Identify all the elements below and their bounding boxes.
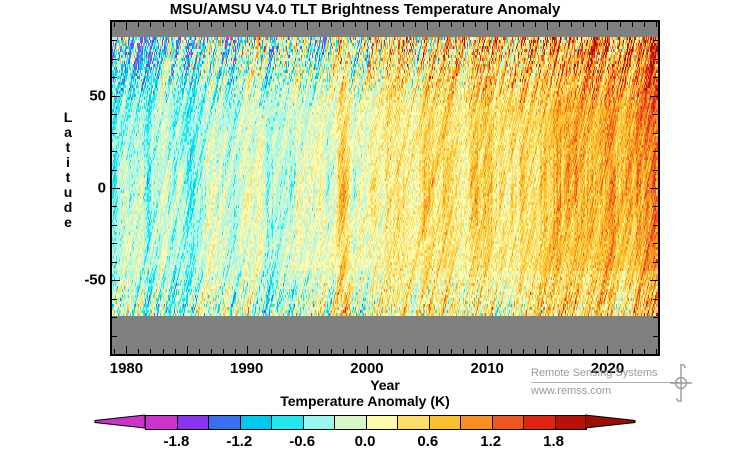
x-tick-1991 xyxy=(259,349,260,354)
x-tick-top-1982 xyxy=(150,22,151,27)
y-axis-title-letter-5: u xyxy=(60,185,76,200)
x-tick-top-2015 xyxy=(547,22,548,30)
x-tick-2003 xyxy=(403,349,404,354)
x-tick-top-2004 xyxy=(415,22,416,27)
colorbar-band-12 xyxy=(524,416,556,429)
x-tick-top-2008 xyxy=(463,22,464,27)
x-tick-2012 xyxy=(511,349,512,354)
y-axis-title-letter-7: e xyxy=(60,215,76,230)
x-tick-2016 xyxy=(559,349,560,354)
y-tick--10 xyxy=(112,206,117,207)
y-tick-right-30 xyxy=(653,133,658,134)
y-axis-title: Latitude xyxy=(60,110,76,230)
x-tick-top-2013 xyxy=(523,22,524,27)
x-tick-1983 xyxy=(163,349,164,354)
x-tick-top-1983 xyxy=(163,22,164,27)
y-axis-title-letter-1: a xyxy=(60,125,76,140)
colorbar-band-1 xyxy=(178,416,210,429)
colorbar-bands[interactable] xyxy=(145,415,587,430)
x-tick-top-1984 xyxy=(175,22,176,27)
x-tick-top-1996 xyxy=(319,22,320,27)
x-tick-top-2020 xyxy=(607,22,608,30)
x-tick-top-1979 xyxy=(114,22,115,27)
y-tick-right-10 xyxy=(653,170,658,171)
colorbar-band-3 xyxy=(241,416,273,429)
colorbar-tick-0.6: 0.6 xyxy=(417,433,438,450)
x-tick-top-1981 xyxy=(138,22,139,27)
x-tick-1993 xyxy=(283,349,284,354)
y-tick--30 xyxy=(112,243,117,244)
x-tick-2024 xyxy=(656,349,657,354)
x-tick-top-1992 xyxy=(271,22,272,27)
x-tick-1984 xyxy=(175,349,176,354)
y-axis-title-letter-4: t xyxy=(60,170,76,185)
y-tick-10 xyxy=(112,170,117,171)
x-tick-2004 xyxy=(415,349,416,354)
x-tick-2008 xyxy=(463,349,464,354)
x-tick-1979 xyxy=(114,349,115,354)
x-tick-top-2018 xyxy=(583,22,584,27)
watermark-line-1: Remote Sensing Systems xyxy=(531,366,681,383)
x-tick-1987 xyxy=(211,349,212,354)
y-tick-60 xyxy=(112,77,117,78)
x-tick-top-2019 xyxy=(595,22,596,27)
x-tick-top-1995 xyxy=(307,22,308,30)
x-tick-top-2001 xyxy=(379,22,380,27)
watermark: Remote Sensing Systems www.remss.com xyxy=(531,366,681,399)
x-tick-top-1991 xyxy=(259,22,260,27)
x-tick-2020 xyxy=(607,346,608,354)
x-tick-top-2010 xyxy=(487,22,488,30)
colorbar-tick-1.2: 1.2 xyxy=(480,433,501,450)
y-tick-right--10 xyxy=(653,206,658,207)
y-tick-30 xyxy=(112,133,117,134)
x-tick-top-1980 xyxy=(126,22,127,30)
x-tick-top-1987 xyxy=(211,22,212,27)
y-axis-title-letter-6: d xyxy=(60,200,76,215)
x-axis-label-1990: 1990 xyxy=(230,360,263,377)
x-tick-1994 xyxy=(295,349,296,354)
x-tick-2011 xyxy=(499,349,500,354)
colorbar-band-0 xyxy=(146,416,178,429)
x-tick-2015 xyxy=(547,346,548,354)
y-tick-right-60 xyxy=(653,77,658,78)
y-tick-40 xyxy=(112,114,117,115)
x-tick-2013 xyxy=(523,349,524,354)
x-tick-1982 xyxy=(150,349,151,354)
x-tick-top-1998 xyxy=(343,22,344,27)
y-axis-label-50: 50 xyxy=(66,87,106,104)
x-tick-1998 xyxy=(343,349,344,354)
x-tick-2022 xyxy=(632,349,633,354)
x-tick-2006 xyxy=(439,349,440,354)
x-axis-label-2010: 2010 xyxy=(471,360,504,377)
x-tick-top-2023 xyxy=(644,22,645,27)
x-tick-2023 xyxy=(644,349,645,354)
y-tick-right--20 xyxy=(653,225,658,226)
x-tick-top-1994 xyxy=(295,22,296,27)
x-tick-1996 xyxy=(319,349,320,354)
x-tick-1989 xyxy=(235,349,236,354)
colorbar[interactable]: -1.8-1.2-0.60.00.61.21.8 xyxy=(95,411,635,431)
y-tick-right-20 xyxy=(653,151,658,152)
y-tick--70 xyxy=(112,317,117,318)
page-title: MSU/AMSU V4.0 TLT Brightness Temperature… xyxy=(0,1,730,18)
y-tick--80 xyxy=(112,336,117,337)
watermark-line-2: www.remss.com xyxy=(531,383,681,399)
x-tick-2000 xyxy=(367,346,368,354)
x-tick-top-1999 xyxy=(355,22,356,27)
x-tick-top-2017 xyxy=(571,22,572,27)
x-tick-top-2006 xyxy=(439,22,440,27)
x-axis-label-2000: 2000 xyxy=(350,360,383,377)
x-tick-top-2003 xyxy=(403,22,404,27)
x-tick-top-2021 xyxy=(620,22,621,27)
y-tick-right--50 xyxy=(650,280,658,281)
y-tick-right--70 xyxy=(653,317,658,318)
x-tick-1990 xyxy=(247,346,248,354)
x-tick-top-2007 xyxy=(451,22,452,27)
colorbar-band-2 xyxy=(209,416,241,429)
colorbar-band-7 xyxy=(367,416,399,429)
x-tick-top-1993 xyxy=(283,22,284,27)
x-tick-1999 xyxy=(355,349,356,354)
y-tick-0 xyxy=(112,188,120,189)
chart-figure: MSU/AMSU V4.0 TLT Brightness Temperature… xyxy=(0,0,730,450)
y-tick-right--60 xyxy=(653,299,658,300)
x-tick-top-2016 xyxy=(559,22,560,27)
y-tick--40 xyxy=(112,262,117,263)
x-tick-top-2000 xyxy=(367,22,368,30)
colorbar-under-arrow-icon xyxy=(93,411,145,432)
y-tick-right-50 xyxy=(650,96,658,97)
x-tick-2018 xyxy=(583,349,584,354)
x-tick-2021 xyxy=(620,349,621,354)
colorbar-tick-labels: -1.8-1.2-0.60.00.61.21.8 xyxy=(95,433,635,455)
colorbar-tick--1.8: -1.8 xyxy=(163,433,189,450)
x-tick-top-2005 xyxy=(427,22,428,30)
x-tick-1985 xyxy=(187,346,188,354)
x-tick-top-2014 xyxy=(535,22,536,27)
x-tick-2005 xyxy=(427,346,428,354)
x-tick-top-1997 xyxy=(331,22,332,27)
y-tick-right-0 xyxy=(650,188,658,189)
colorbar-tick-1.8: 1.8 xyxy=(543,433,564,450)
y-tick-right-40 xyxy=(653,114,658,115)
colorbar-band-10 xyxy=(461,416,493,429)
heatmap-plot-area[interactable] xyxy=(110,20,660,356)
y-tick--60 xyxy=(112,299,117,300)
y-tick-80 xyxy=(112,40,117,41)
y-tick-right-80 xyxy=(653,40,658,41)
x-tick-2007 xyxy=(451,349,452,354)
y-tick-right--30 xyxy=(653,243,658,244)
colorbar-band-5 xyxy=(304,416,336,429)
satellite-crosshair-logo-icon xyxy=(668,362,694,404)
x-tick-top-1985 xyxy=(187,22,188,30)
y-tick--50 xyxy=(112,280,120,281)
y-tick-50 xyxy=(112,96,120,97)
colorbar-band-13 xyxy=(556,416,587,429)
y-tick-right--40 xyxy=(653,262,658,263)
colorbar-band-8 xyxy=(398,416,430,429)
y-tick-right--80 xyxy=(653,336,658,337)
colorbar-tick--1.2: -1.2 xyxy=(226,433,252,450)
x-tick-top-2002 xyxy=(391,22,392,27)
heatmap-canvas[interactable] xyxy=(112,22,658,354)
colorbar-band-4 xyxy=(272,416,304,429)
y-tick-right-70 xyxy=(653,59,658,60)
x-tick-1981 xyxy=(138,349,139,354)
x-tick-2002 xyxy=(391,349,392,354)
x-tick-2001 xyxy=(379,349,380,354)
colorbar-band-6 xyxy=(335,416,367,429)
x-tick-2010 xyxy=(487,346,488,354)
x-tick-1988 xyxy=(223,349,224,354)
x-tick-2014 xyxy=(535,349,536,354)
x-tick-1992 xyxy=(271,349,272,354)
x-tick-1997 xyxy=(331,349,332,354)
y-tick--20 xyxy=(112,225,117,226)
x-tick-top-2011 xyxy=(499,22,500,27)
x-tick-top-2009 xyxy=(475,22,476,27)
x-tick-top-2012 xyxy=(511,22,512,27)
x-tick-top-1989 xyxy=(235,22,236,27)
x-tick-1986 xyxy=(199,349,200,354)
colorbar-over-arrow-icon xyxy=(585,411,637,432)
x-tick-1995 xyxy=(307,346,308,354)
x-tick-top-2022 xyxy=(632,22,633,27)
y-tick-20 xyxy=(112,151,117,152)
x-tick-top-1988 xyxy=(223,22,224,27)
colorbar-tick-0.0: 0.0 xyxy=(355,433,376,450)
x-tick-2019 xyxy=(595,349,596,354)
colorbar-band-9 xyxy=(430,416,462,429)
x-tick-top-1986 xyxy=(199,22,200,27)
x-tick-1980 xyxy=(126,346,127,354)
colorbar-tick--0.6: -0.6 xyxy=(289,433,315,450)
x-tick-2009 xyxy=(475,349,476,354)
y-tick-70 xyxy=(112,59,117,60)
x-axis-label-1980: 1980 xyxy=(110,360,143,377)
y-axis-title-letter-3: i xyxy=(60,155,76,170)
x-tick-2017 xyxy=(571,349,572,354)
x-tick-top-2024 xyxy=(656,22,657,27)
y-axis-title-letter-2: t xyxy=(60,140,76,155)
y-axis-title-letter-0: L xyxy=(60,110,76,125)
y-axis-label--50: -50 xyxy=(66,272,106,289)
colorbar-band-11 xyxy=(493,416,525,429)
x-tick-top-1990 xyxy=(247,22,248,30)
